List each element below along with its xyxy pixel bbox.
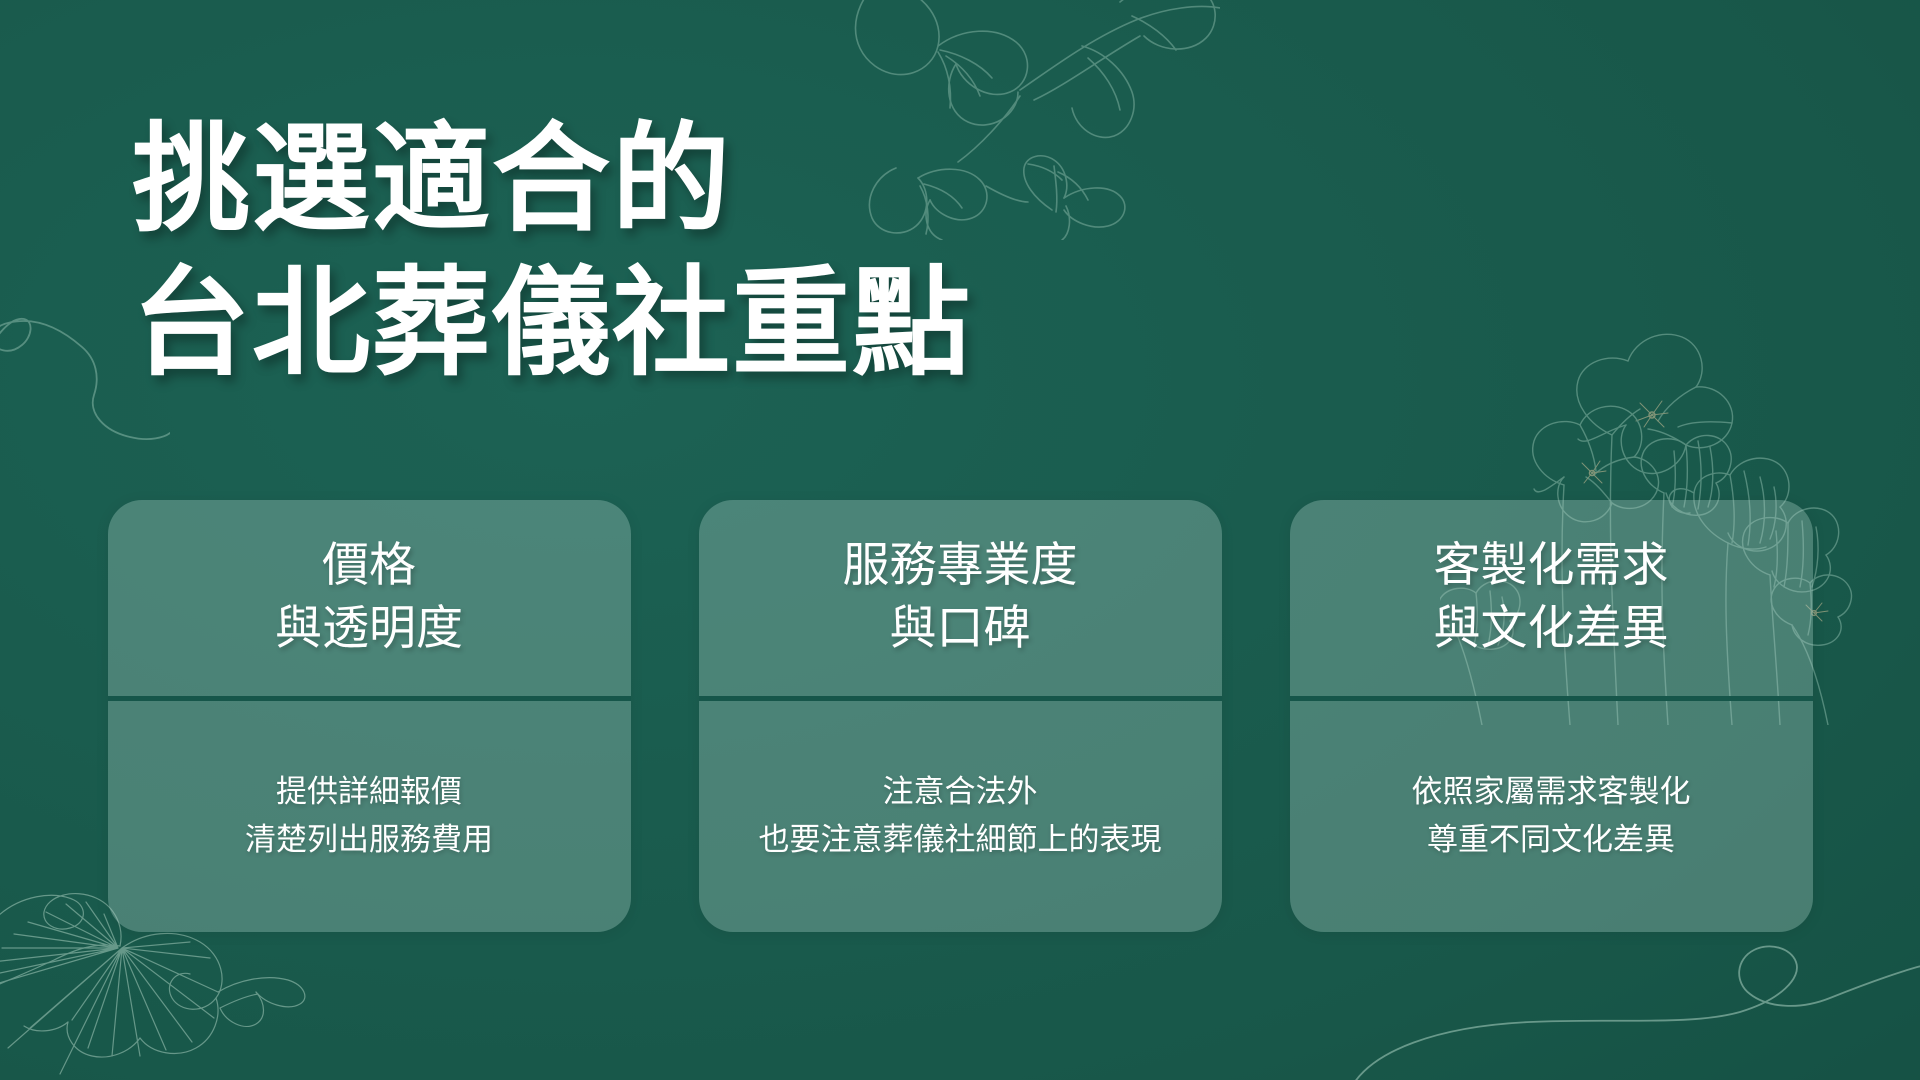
card-heading: 服務專業度 與口碑 <box>699 500 1222 701</box>
title-line-1: 挑選適合的 <box>132 108 972 252</box>
card-heading-line-1: 客製化需求 <box>1434 535 1669 598</box>
card-body-line-1: 依照家屬需求客製化 <box>1412 769 1691 816</box>
card-heading-line-1: 服務專業度 <box>843 535 1078 598</box>
page-title: 挑選適合的 台北葬儀社重點 <box>132 108 972 396</box>
card-heading-line-2: 與口碑 <box>890 598 1031 661</box>
title-line-2: 台北葬儀社重點 <box>132 252 972 396</box>
card-heading: 客製化需求 與文化差異 <box>1290 500 1813 701</box>
card-heading-line-1: 價格 <box>322 535 416 598</box>
card-heading: 價格 與透明度 <box>108 500 631 701</box>
feature-card-custom[interactable]: 客製化需求 與文化差異 依照家屬需求客製化 尊重不同文化差異 <box>1290 500 1813 932</box>
card-body: 依照家屬需求客製化 尊重不同文化差異 <box>1290 701 1813 932</box>
card-heading-line-2: 與文化差異 <box>1434 598 1669 661</box>
card-body-line-2: 清楚列出服務費用 <box>245 817 493 864</box>
card-body: 注意合法外 也要注意葬儀社細節上的表現 <box>699 701 1222 932</box>
card-body-line-2: 尊重不同文化差異 <box>1427 817 1675 864</box>
card-heading-line-2: 與透明度 <box>275 598 463 661</box>
card-body-line-1: 注意合法外 <box>883 769 1038 816</box>
card-body-line-1: 提供詳細報價 <box>276 769 462 816</box>
feature-card-price[interactable]: 價格 與透明度 提供詳細報價 清楚列出服務費用 <box>108 500 631 932</box>
slide-canvas: 挑選適合的 台北葬儀社重點 價格 與透明度 提供詳細報價 清楚列出服務費用 服務… <box>0 0 1920 1080</box>
bottom-right-swirl-line-decoration <box>1330 940 1920 1080</box>
feature-card-row: 價格 與透明度 提供詳細報價 清楚列出服務費用 服務專業度 與口碑 注意合法外 … <box>0 500 1920 932</box>
card-body: 提供詳細報價 清楚列出服務費用 <box>108 701 631 932</box>
feature-card-service[interactable]: 服務專業度 與口碑 注意合法外 也要注意葬儀社細節上的表現 <box>699 500 1222 932</box>
card-body-line-2: 也要注意葬儀社細節上的表現 <box>759 817 1162 864</box>
